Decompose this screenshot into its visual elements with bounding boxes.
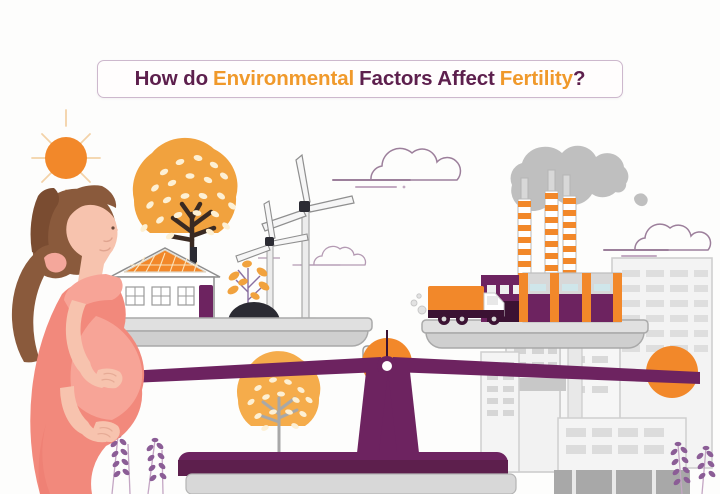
smokestack-1 [518,199,531,281]
title-banner: How doEnvironmentalFactors AffectFertili… [97,60,623,98]
scale-pan-right [422,320,648,348]
title-segment-2: Environmental [213,67,354,90]
smokestack-2 [545,191,558,281]
title-segment-4: Fertility [500,67,573,90]
smokestack-3 [563,196,576,281]
page-title: How doEnvironmentalFactors AffectFertili… [135,69,586,90]
title-segment-1: How do [135,67,208,90]
title-segment-5: ? [573,67,585,90]
infographic-canvas: How doEnvironmentalFactors AffectFertili… [0,0,720,494]
title-segment-3: Factors Affect [359,67,495,90]
